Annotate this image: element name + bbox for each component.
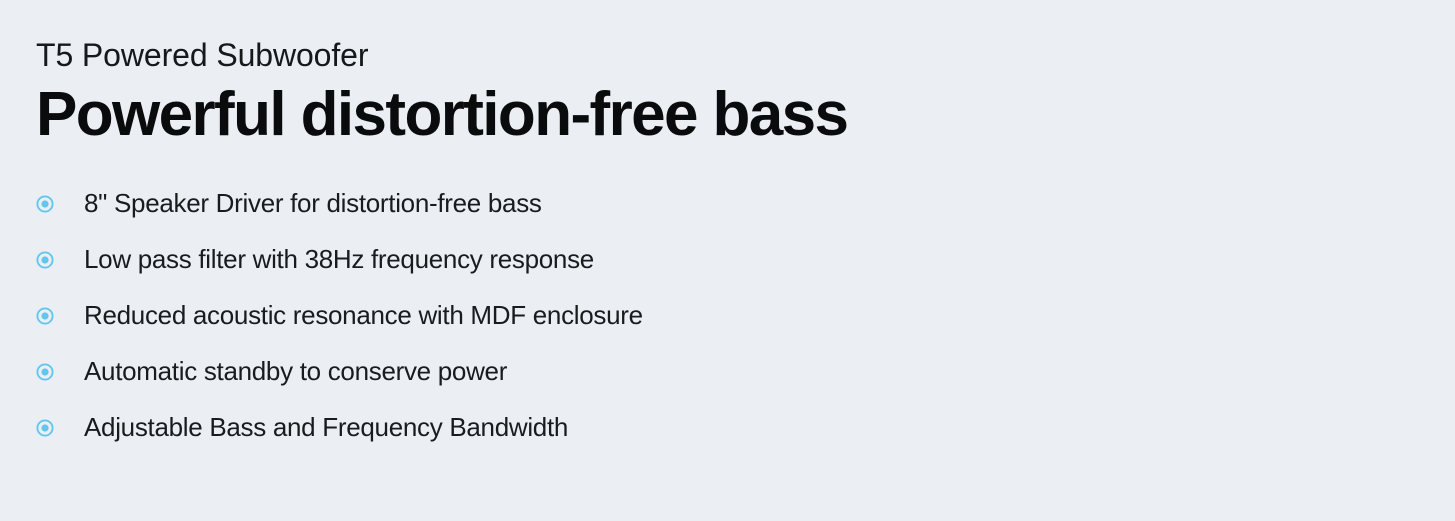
radio-dot-icon: [36, 251, 54, 269]
radio-dot-icon: [36, 363, 54, 381]
product-feature-panel: T5 Powered Subwoofer Powerful distortion…: [0, 0, 1455, 521]
page-title: Powerful distortion-free bass: [36, 80, 1455, 149]
feature-label: Low pass filter with 38Hz frequency resp…: [84, 244, 594, 275]
product-eyebrow: T5 Powered Subwoofer: [36, 36, 1455, 74]
list-item: Adjustable Bass and Frequency Bandwidth: [36, 400, 1455, 456]
feature-label: Adjustable Bass and Frequency Bandwidth: [84, 412, 568, 443]
feature-label: 8" Speaker Driver for distortion-free ba…: [84, 188, 542, 219]
radio-dot-icon: [36, 307, 54, 325]
list-item: Low pass filter with 38Hz frequency resp…: [36, 232, 1455, 288]
radio-dot-icon: [36, 195, 54, 213]
feature-label: Reduced acoustic resonance with MDF encl…: [84, 300, 643, 331]
list-item: Reduced acoustic resonance with MDF encl…: [36, 288, 1455, 344]
radio-dot-icon: [36, 419, 54, 437]
feature-label: Automatic standby to conserve power: [84, 356, 507, 387]
feature-list: 8" Speaker Driver for distortion-free ba…: [36, 176, 1455, 456]
list-item: Automatic standby to conserve power: [36, 344, 1455, 400]
list-item: 8" Speaker Driver for distortion-free ba…: [36, 176, 1455, 232]
